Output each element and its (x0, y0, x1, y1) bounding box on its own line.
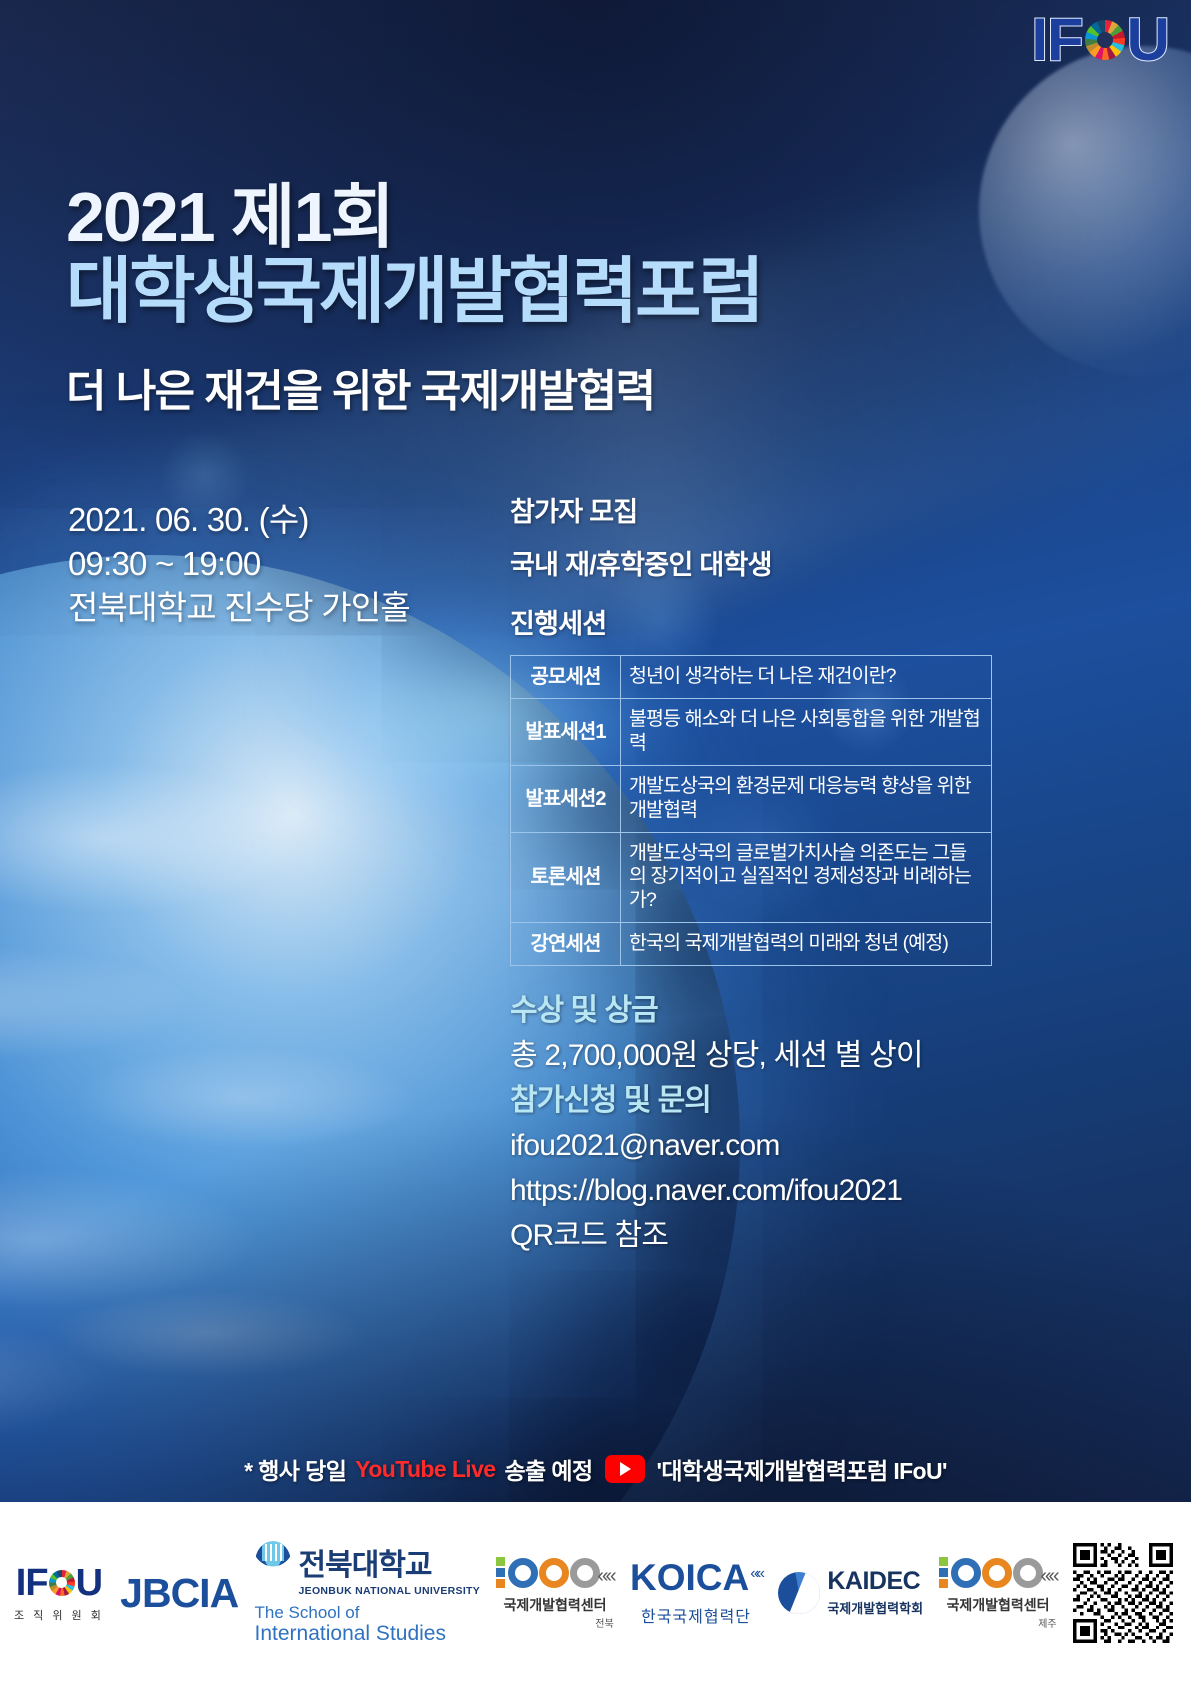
idcc-ring-icon (1013, 1558, 1043, 1588)
jbcia-letters: JBCIA (120, 1573, 238, 1614)
table-row: 공모세션 청년이 생각하는 더 나은 재건이란? (511, 656, 992, 699)
broadcast-highlight: YouTube Live (355, 1456, 495, 1483)
kaidec-caption: 국제개발협력학회 (827, 1598, 923, 1617)
sdg-wheel-icon (1085, 20, 1125, 60)
idcc-mark: «« (496, 1557, 613, 1588)
qr-code-icon (1073, 1543, 1173, 1643)
recruit-heading: 참가자 모집 (510, 490, 1000, 529)
ifou-logo: IF U (1031, 10, 1169, 70)
session-value: 개발도상국의 환경문제 대응능력 향상을 위한 개발협력 (621, 765, 992, 832)
jbnu-school-line2: International Studies (255, 1623, 446, 1645)
jbnu-school-line1: The School of (255, 1603, 360, 1623)
headline-line-1: 2021 제1회 (66, 182, 762, 252)
sponsor-bar: IF U 조 직 위 원 회 JBCIA 전북대학교 JEONBUK NATIO… (0, 1502, 1191, 1684)
idcc-region: 제주 (1038, 1615, 1056, 1630)
headline-block: 2021 제1회 대학생국제개발협력포럼 더 나은 재건을 위한 국제개발협력 (66, 182, 762, 419)
jbnu-crest-icon (255, 1541, 291, 1583)
ifou-sponsor-text-b: U (76, 1564, 102, 1602)
sessions-table-body: 공모세션 청년이 생각하는 더 나은 재건이란? 발표세션1 불평등 해소와 더… (511, 656, 992, 966)
jbcia-mark: JBCIA (120, 1573, 238, 1614)
sponsor-logo-ifou: IF U 조 직 위 원 회 (14, 1564, 104, 1623)
sessions-table: 공모세션 청년이 생각하는 더 나은 재건이란? 발표세션1 불평등 해소와 더… (510, 655, 992, 966)
sponsor-logo-koica: KOICA «« 한국국제협력단 (630, 1559, 762, 1627)
session-key: 발표세션1 (511, 699, 621, 766)
koica-name: KOICA (630, 1559, 749, 1596)
sponsor-logo-kaidec: KAIDEC 국제개발협력학회 (778, 1569, 923, 1617)
session-value: 불평등 해소와 더 나은 사회통합을 위한 개발협력 (621, 699, 992, 766)
recruit-eligibility: 국내 재/휴학중인 대학생 (510, 543, 1000, 582)
jbnu-row: 전북대학교 (255, 1540, 432, 1584)
idcc-swoosh-icon: «« (597, 1565, 613, 1588)
table-row: 토론세션 개발도상국의 글로벌가치사슬 의존도는 그들의 장기적이고 실질적인 … (511, 832, 992, 922)
idcc-caption: 국제개발협력센터 (946, 1595, 1049, 1615)
contact-heading: 참가신청 및 문의 (510, 1078, 1000, 1123)
idcc-mark: «« (939, 1557, 1056, 1588)
event-details-block: 2021. 06. 30. (수) 09:30 ~ 19:00 전북대학교 진수… (68, 498, 410, 630)
idcc-swoosh-icon: «« (1040, 1565, 1056, 1588)
sponsor-logo-idcc-jeju: «« 국제개발협력센터 제주 (939, 1557, 1056, 1630)
session-value: 한국의 국제개발협력의 미래와 청년 (예정) (621, 922, 992, 965)
koica-swoosh-icon: «« (750, 1565, 762, 1583)
broadcast-notice: * 행사 당일 YouTube Live 송출 예정 '대학생국제개발협력포럼 … (0, 1452, 1191, 1486)
idcc-ring-icon (508, 1558, 538, 1588)
koica-caption: 한국국제협력단 (641, 1603, 751, 1627)
session-key: 공모세션 (511, 656, 621, 699)
table-row: 강연세션 한국의 국제개발협력의 미래와 청년 (예정) (511, 922, 992, 965)
idcc-ring-icon (982, 1558, 1012, 1588)
sessions-heading: 진행세션 (510, 602, 1000, 641)
table-row: 발표세션2 개발도상국의 환경문제 대응능력 향상을 위한 개발협력 (511, 765, 992, 832)
session-key: 강연세션 (511, 922, 621, 965)
right-content-column: 참가자 모집 국내 재/휴학중인 대학생 진행세션 공모세션 청년이 생각하는 … (510, 490, 1000, 1258)
award-detail: 총 2,700,000원 상당, 세션 별 상이 (510, 1033, 1000, 1078)
ifou-logo-text-a: IF (1031, 10, 1082, 70)
idcc-blocks-icon (939, 1557, 948, 1588)
ifou-sponsor-caption: 조 직 위 원 회 (14, 1607, 104, 1623)
idcc-ring-icon (570, 1558, 600, 1588)
idcc-ring-icon (539, 1558, 569, 1588)
contact-blog-link[interactable]: https://blog.naver.com/ifou2021 (510, 1168, 1000, 1213)
event-date: 2021. 06. 30. (수) (68, 498, 410, 542)
sponsor-logo-idcc-jeonbuk: «« 국제개발협력센터 전북 (496, 1557, 613, 1630)
kaidec-name: KAIDEC (827, 1567, 920, 1595)
table-row: 발표세션1 불평등 해소와 더 나은 사회통합을 위한 개발협력 (511, 699, 992, 766)
koica-mark: KOICA «« (630, 1559, 762, 1596)
qr-code[interactable] (1073, 1543, 1173, 1643)
youtube-play-icon[interactable] (605, 1455, 645, 1483)
event-time: 09:30 ~ 19:00 (68, 542, 410, 586)
idcc-caption: 국제개발협력센터 (504, 1595, 607, 1615)
idcc-blocks-icon (496, 1557, 505, 1588)
broadcast-middle: 송출 예정 (504, 1452, 592, 1486)
award-and-contact-block: 수상 및 상금 총 2,700,000원 상당, 세션 별 상이 참가신청 및 … (510, 988, 1000, 1258)
headline-line-2: 대학생국제개발협력포럼 (66, 252, 762, 333)
qr-note: QR코드 참조 (510, 1213, 1000, 1258)
session-value: 청년이 생각하는 더 나은 재건이란? (621, 656, 992, 699)
kaidec-mark: KAIDEC 국제개발협력학회 (778, 1569, 923, 1617)
idcc-region: 전북 (595, 1615, 613, 1630)
broadcast-channel: '대학생국제개발협력포럼 IFoU' (657, 1452, 947, 1486)
broadcast-prefix: * 행사 당일 (244, 1452, 346, 1486)
session-value: 개발도상국의 글로벌가치사슬 의존도는 그들의 장기적이고 실질적인 경제성장과… (621, 832, 992, 922)
poster-root: IF U 2021 제1회 대학생국제개발협력포럼 더 나은 재건을 위한 국제… (0, 0, 1191, 1684)
session-key: 토론세션 (511, 832, 621, 922)
idcc-ring-icon (951, 1558, 981, 1588)
jbnu-name-ko: 전북대학교 (299, 1540, 432, 1584)
kaidec-text-group: KAIDEC 국제개발협력학회 (827, 1569, 923, 1617)
sponsor-logo-jbcia: JBCIA (120, 1573, 238, 1614)
kaidec-swirl-icon (778, 1572, 820, 1614)
contact-email[interactable]: ifou2021@naver.com (510, 1123, 1000, 1168)
ifou-sponsor-mark: IF U (16, 1564, 102, 1602)
headline-subtitle: 더 나은 재건을 위한 국제개발협력 (66, 355, 762, 419)
jbnu-name-en: JEONBUK NATIONAL UNIVERSITY (299, 1585, 481, 1597)
sdg-wheel-icon (49, 1570, 75, 1596)
ifou-logo-text-b: U (1127, 10, 1169, 70)
ifou-sponsor-text-a: IF (16, 1564, 48, 1602)
session-key: 발표세션2 (511, 765, 621, 832)
award-heading: 수상 및 상금 (510, 988, 1000, 1033)
event-venue: 전북대학교 진수당 가인홀 (68, 586, 410, 630)
sponsor-logo-jbnu: 전북대학교 JEONBUK NATIONAL UNIVERSITY The Sc… (255, 1540, 481, 1645)
